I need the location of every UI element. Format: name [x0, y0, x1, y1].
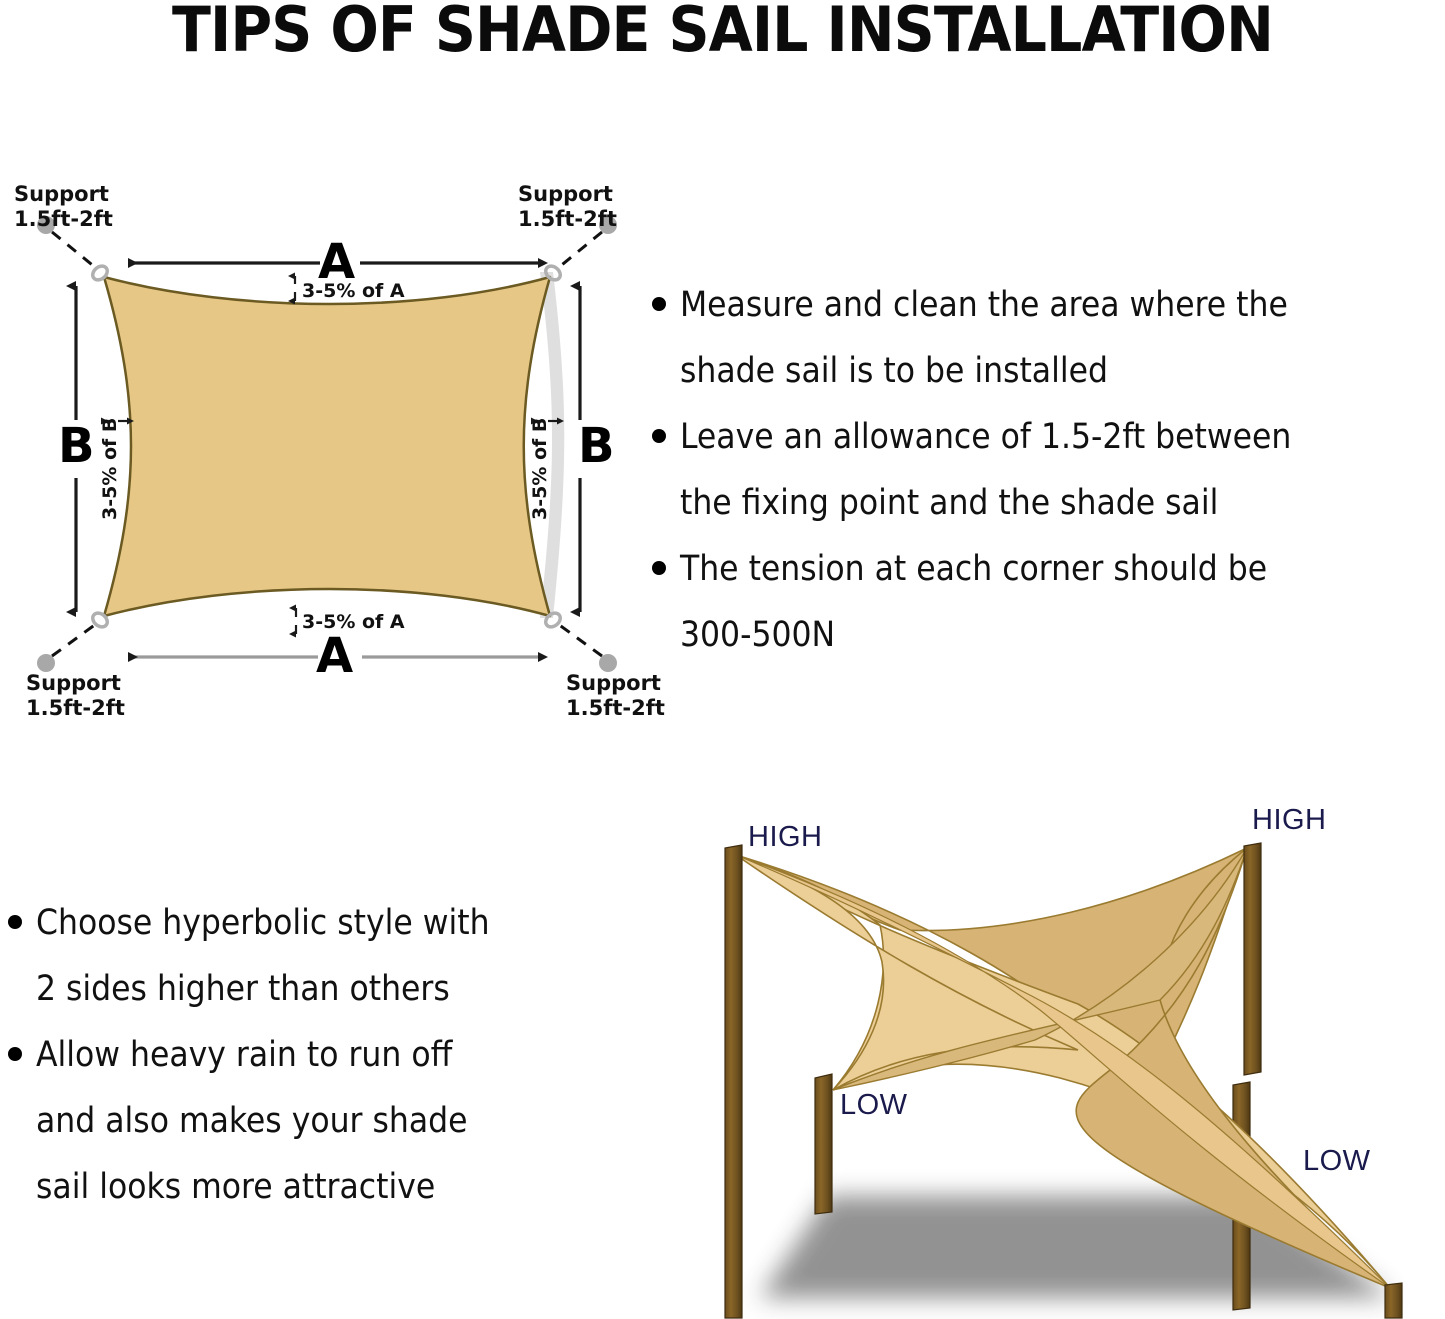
dimension-letter-a-top: A — [318, 238, 355, 286]
pole — [815, 1074, 832, 1214]
label-low-left: LOW — [840, 1090, 908, 1120]
bullet-dot-icon — [652, 297, 666, 311]
list-item-line: Measure and clean the area where the — [680, 285, 1288, 325]
list-item: Choose hyperbolic style with 2 sides hig… — [8, 890, 633, 1022]
bullet-dot-icon — [8, 915, 22, 929]
list-item-label: Allow heavy rain to run off and also mak… — [36, 1022, 468, 1220]
dimension-letter-a-bottom: A — [316, 632, 353, 680]
support-label-bottom-right: Support 1.5ft-2ft — [566, 671, 665, 721]
support-label-top-left: Support 1.5ft-2ft — [14, 182, 113, 232]
list-item-line: Allow heavy rain to run off — [36, 1035, 452, 1075]
list-item-line: 2 sides higher than others — [36, 969, 450, 1009]
pole — [725, 845, 742, 1318]
tips-list-right: Measure and clean the area where the sha… — [652, 272, 1445, 668]
curve-label-right: 3-5% of B — [530, 418, 550, 520]
pole — [1244, 843, 1261, 1075]
list-item-line: shade sail is to be installed — [680, 351, 1108, 391]
list-item-line: sail looks more attractive — [36, 1167, 435, 1207]
label-high-right: HIGH — [1252, 805, 1327, 835]
list-item-line: Choose hyperbolic style with — [36, 903, 490, 943]
list-item-label: The tension at each corner should be 300… — [680, 536, 1267, 668]
label-low-right: LOW — [1303, 1146, 1371, 1176]
bullet-dot-icon — [8, 1047, 22, 1061]
curve-label-left: 3-5% of B — [100, 418, 120, 520]
page-title: TIPS OF SHADE SAIL INSTALLATION — [58, 0, 1387, 64]
label-high-left: HIGH — [748, 822, 823, 852]
curve-label-bottom: 3-5% of A — [302, 612, 405, 632]
support-label-bottom-left: Support 1.5ft-2ft — [26, 671, 125, 721]
support-label-value: 1.5ft-2ft — [518, 207, 617, 232]
support-label-text: Support — [14, 182, 109, 206]
support-label-value: 1.5ft-2ft — [566, 696, 665, 721]
list-item: The tension at each corner should be 300… — [652, 536, 1445, 668]
support-label-value: 1.5ft-2ft — [14, 207, 113, 232]
list-item-line: The tension at each corner should be — [680, 549, 1267, 589]
support-label-text: Support — [26, 671, 121, 695]
list-item: Leave an allowance of 1.5-2ft between th… — [652, 404, 1445, 536]
curve-label-top: 3-5% of A — [302, 281, 405, 301]
infographic-page: TIPS OF SHADE SAIL INSTALLATION — [0, 0, 1445, 1319]
dimension-letter-b-left: B — [58, 422, 95, 470]
list-item-label: Choose hyperbolic style with 2 sides hig… — [36, 890, 490, 1022]
list-item: Allow heavy rain to run off and also mak… — [8, 1022, 633, 1220]
support-label-text: Support — [518, 182, 613, 206]
support-label-value: 1.5ft-2ft — [26, 696, 125, 721]
dimension-letter-b-right: B — [578, 422, 615, 470]
support-label-text: Support — [566, 671, 661, 695]
pole — [1385, 1283, 1402, 1318]
support-label-top-right: Support 1.5ft-2ft — [518, 182, 617, 232]
list-item-label: Measure and clean the area where the sha… — [680, 272, 1288, 404]
list-item-label: Leave an allowance of 1.5-2ft between th… — [680, 404, 1291, 536]
list-item-line: 300-500N — [680, 615, 835, 655]
bullet-dot-icon — [652, 561, 666, 575]
pole — [1233, 1082, 1250, 1310]
list-item: Measure and clean the area where the sha… — [652, 272, 1445, 404]
bullet-dot-icon — [652, 429, 666, 443]
list-item-line: and also makes your shade — [36, 1101, 468, 1141]
list-item-line: the fixing point and the shade sail — [680, 483, 1218, 523]
list-item-line: Leave an allowance of 1.5-2ft between — [680, 417, 1291, 457]
tips-list-left: Choose hyperbolic style with 2 sides hig… — [8, 890, 633, 1220]
